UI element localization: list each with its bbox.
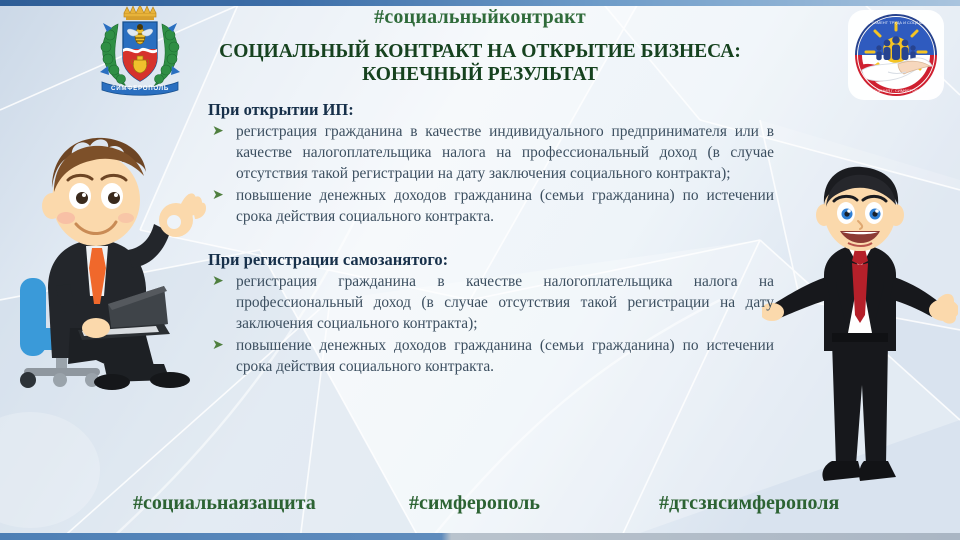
arrow-bullet-icon: ➤ [212, 271, 224, 292]
list-item: ➤ повышение денежных доходов гражданина … [208, 185, 774, 227]
coat-of-arms-simferopol-icon: СИМФЕРОПОЛЬ [88, 2, 192, 98]
logo-ring-text-bottom: НАСЕЛЕНИЯ Г. СИМФЕРОПОЛЯ [865, 88, 927, 93]
social-services-logo-icon: ДЕПАРТАМЕНТ ТРУДА И СОЦЗАЩИТЫ НАСЕЛЕНИЯ … [842, 8, 950, 102]
logo-ring-text-top: ДЕПАРТАМЕНТ ТРУДА И СОЦЗАЩИТЫ [858, 20, 934, 25]
section-heading-ip: При открытии ИП: [208, 100, 774, 120]
list-item-text: регистрация гражданина в качестве индиви… [236, 123, 774, 182]
footer-hashtag-dtszn: #дтсзнсимферополя [659, 492, 839, 515]
list-item: ➤ регистрация гражданина в качестве нало… [208, 271, 774, 335]
page-title-line-1: СОЦИАЛЬНЫЙ КОНТРАКТ НА ОТКРЫТИЕ БИЗНЕСА: [170, 40, 790, 63]
page-title-line-2: КОНЕЧНЫЙ РЕЗУЛЬТАТ [170, 63, 790, 86]
section-spacer [208, 231, 774, 250]
top-accent-bar [0, 0, 960, 6]
page-title: СОЦИАЛЬНЫЙ КОНТРАКТ НА ОТКРЫТИЕ БИЗНЕСА:… [170, 40, 790, 86]
list-item: ➤ регистрация гражданина в качестве инди… [208, 121, 774, 185]
bullet-list-ip: ➤ регистрация гражданина в качестве инди… [208, 121, 774, 227]
arrow-bullet-icon: ➤ [212, 185, 224, 206]
section-selfemployed: При регистрации самозанятого: ➤ регистра… [208, 250, 774, 377]
list-item-text: повышение денежных доходов гражданина (с… [236, 187, 774, 225]
footer-hashtag-socialnayazashchita: #социальнаязащита [133, 492, 316, 515]
section-ip: При открытии ИП: ➤ регистрация гражданин… [208, 100, 774, 227]
bullet-list-selfemployed: ➤ регистрация гражданина в качестве нало… [208, 271, 774, 377]
list-item: ➤ повышение денежных доходов гражданина … [208, 335, 774, 377]
slide-body: При открытии ИП: ➤ регистрация гражданин… [208, 100, 774, 381]
footer-hashtags: #социальнаязащита #симферополь #дтсзнсим… [0, 492, 960, 518]
emblem-ribbon-text: СИМФЕРОПОЛЬ [111, 85, 169, 92]
section-heading-selfemployed: При регистрации самозанятого: [208, 250, 774, 270]
bottom-accent-bar [0, 533, 960, 540]
list-item-text: повышение денежных доходов гражданина (с… [236, 337, 774, 375]
footer-hashtag-simferopol: #симферополь [409, 492, 540, 515]
illustration-businessman-with-laptop [4, 128, 228, 396]
arrow-bullet-icon: ➤ [212, 335, 224, 356]
illustration-businessman-standing [762, 165, 958, 497]
arrow-bullet-icon: ➤ [212, 121, 224, 142]
slide-canvas: СИМФЕРОПОЛЬ [0, 0, 960, 540]
list-item-text: регистрация гражданина в качестве налого… [236, 273, 774, 332]
